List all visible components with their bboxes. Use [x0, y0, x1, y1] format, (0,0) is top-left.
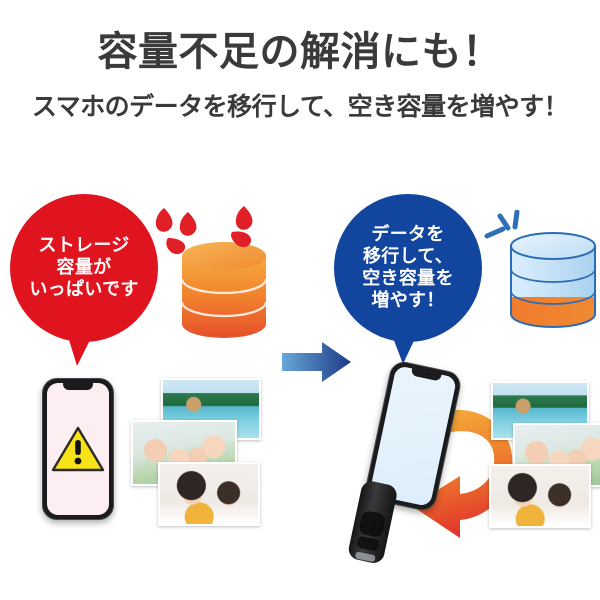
page-subtitle: スマホのデータを移行して、空き容量を増やす！	[0, 92, 600, 122]
poster-canvas: 容量不足の解消にも！ スマホのデータを移行して、空き容量を増やす！ ストレージ …	[0, 0, 600, 600]
source-phone-screen	[47, 383, 109, 515]
transfer-arrow-icon	[282, 341, 352, 388]
transfer-bubble-text: データを 移行して、 空き容量を 増やす！	[362, 224, 454, 312]
storage-full-bubble-tail	[66, 330, 95, 366]
sparkle-lines-icon	[484, 210, 528, 259]
sweat-drops-icon	[152, 204, 270, 265]
transfer-bubble: データを 移行して、 空き容量を 増やす！	[334, 194, 482, 342]
meal-photo	[160, 464, 258, 524]
page-title: 容量不足の解消にも！	[0, 30, 600, 75]
list-item	[158, 462, 260, 526]
source-phone-body	[42, 378, 114, 520]
phone-notch	[63, 383, 93, 390]
meal-photo	[491, 466, 589, 526]
warning-triangle-icon	[51, 425, 105, 473]
list-item	[489, 464, 591, 528]
storage-full-bubble-text: ストレージ 容量が いっぱいです	[29, 235, 138, 301]
usb-flash-drive-icon	[341, 478, 403, 576]
warning-screen	[47, 383, 109, 515]
storage-full-bubble: ストレージ 容量が いっぱいです	[10, 194, 158, 342]
source-phone	[42, 378, 114, 520]
